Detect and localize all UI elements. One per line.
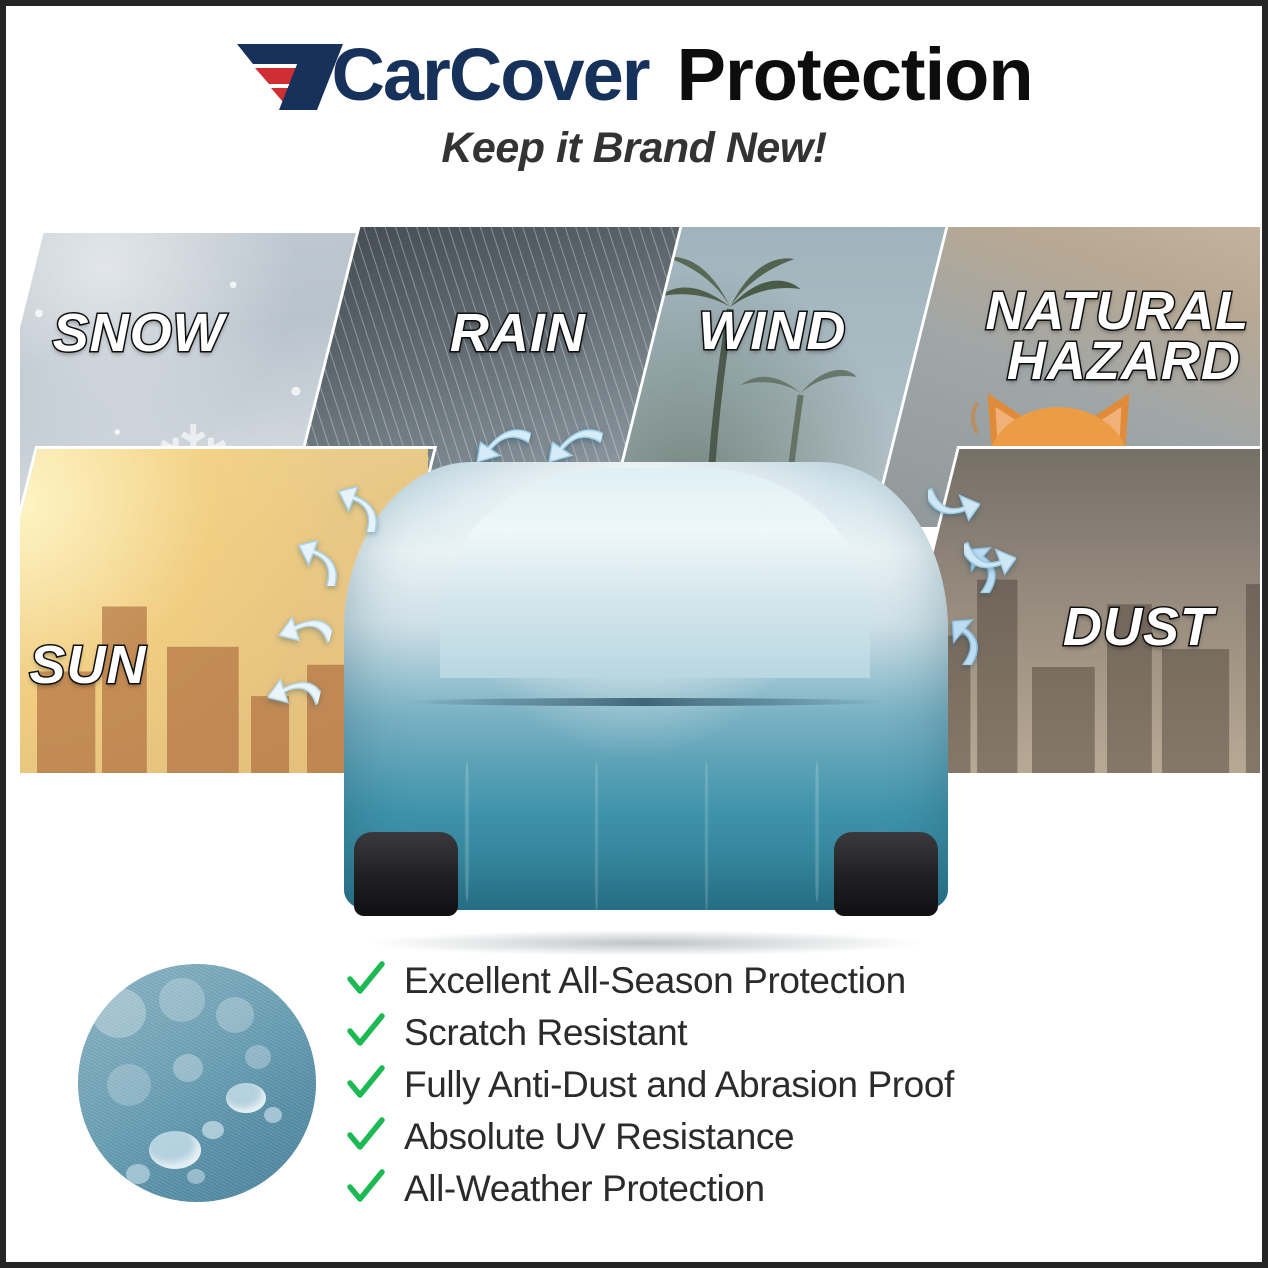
car-wheel-right: [834, 832, 938, 916]
hazard-collage: ❄ SNOW RAIN: [20, 220, 1260, 790]
panel-label-wind: WIND: [698, 305, 846, 358]
feature-label: Fully Anti-Dust and Abrasion Proof: [404, 1066, 954, 1103]
poster-header: CarCover Protection Keep it Brand New!: [6, 32, 1262, 173]
panel-label-hazard: HAZARD: [1007, 335, 1241, 388]
poster-frame: CarCover Protection Keep it Brand New! ❄…: [0, 0, 1268, 1268]
panel-sun-photo: [20, 446, 428, 776]
title-row: CarCover Protection: [6, 32, 1262, 118]
brand-name: CarCover: [331, 38, 648, 112]
water-beading-swatch: [68, 954, 326, 1212]
green-check-icon: [346, 1064, 386, 1104]
feature-item: Scratch Resistant: [346, 1006, 1166, 1058]
green-check-icon: [346, 1012, 386, 1052]
feature-label: All-Weather Protection: [404, 1170, 765, 1207]
brand-text: CarCover: [331, 33, 648, 116]
panel-label-rain: RAIN: [450, 307, 586, 360]
panel-label-snow: SNOW: [53, 307, 225, 360]
panel-label-dust: DUST: [1063, 601, 1214, 654]
feature-label: Absolute UV Resistance: [404, 1118, 794, 1155]
feature-item: Fully Anti-Dust and Abrasion Proof: [346, 1058, 1166, 1110]
green-check-icon: [346, 960, 386, 1000]
feature-item: Excellent All-Season Protection: [346, 954, 1166, 1006]
panel-label-sun: SUN: [29, 639, 146, 692]
feature-label: Excellent All-Season Protection: [404, 962, 906, 999]
green-check-icon: [346, 1168, 386, 1208]
palm-tree-icon: [737, 345, 857, 530]
panel-sun: SUN: [20, 446, 437, 776]
title-tail: Protection: [677, 38, 1033, 112]
feature-label: Scratch Resistant: [404, 1014, 687, 1051]
car-shadow: [366, 930, 926, 956]
feature-item: All-Weather Protection: [346, 1162, 1166, 1214]
water-beading-photo: [78, 964, 316, 1202]
green-check-icon: [346, 1116, 386, 1156]
feature-list: Excellent All-Season Protection Scratch …: [346, 954, 1166, 1214]
poster-subtitle: Keep it Brand New!: [6, 124, 1262, 173]
car-wheel-left: [354, 832, 458, 916]
feature-item: Absolute UV Resistance: [346, 1110, 1166, 1162]
panel-label-natural: NATURAL: [985, 285, 1249, 338]
